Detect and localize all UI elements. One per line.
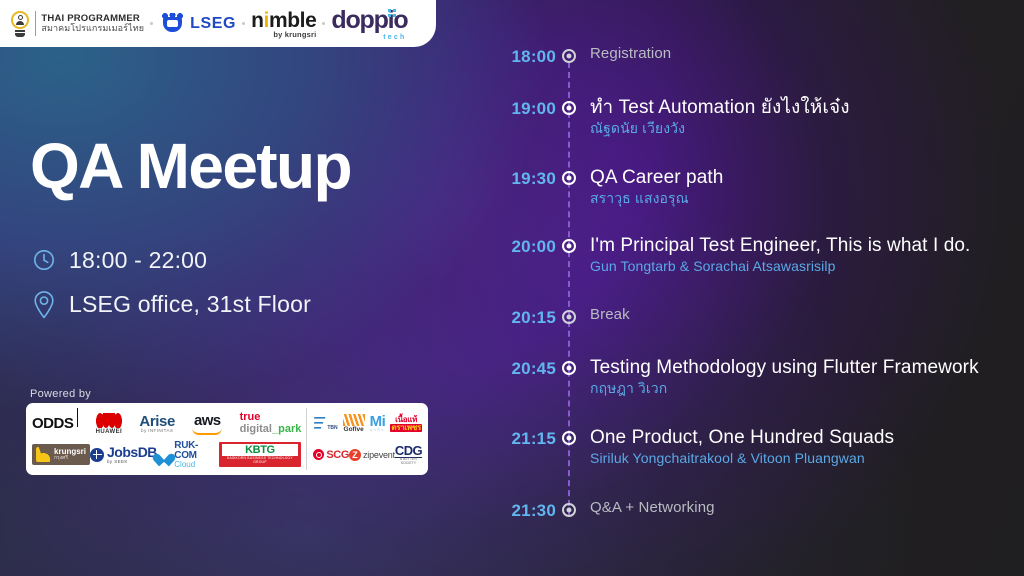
event-poster: THAI PROGRAMMER สมาคมโปรแกรมเมอร์ไทย LSE… (0, 0, 1024, 576)
sponsor-krungsri: krungsri กรุงศรี (32, 441, 90, 468)
sponsor-header-bar: THAI PROGRAMMER สมาคมโปรแกรมเมอร์ไทย LSE… (0, 0, 436, 47)
powered-by-label: Powered by (30, 388, 91, 400)
sponsor-aws: aws (192, 410, 222, 437)
agenda-item-time: 20:45 (460, 357, 556, 379)
event-info-panel: QA Meetup 18:00 - 22:00 LSEG office, 31s… (0, 47, 460, 576)
agenda-item-title: One Product, One Hundred Squads (590, 427, 1024, 449)
agenda-item: 21:30Q&A + Networking (460, 499, 1024, 521)
agenda-item-body: One Product, One Hundred SquadsSiriluk Y… (581, 427, 1024, 467)
sponsor-true-digital-park: true digital_park (240, 410, 302, 437)
agenda-item-title: Break (590, 306, 1024, 323)
zipevent-mark-icon: Z (349, 449, 361, 461)
logo-doppio: doppio tech (331, 8, 407, 40)
agenda-item: 20:45Testing Methodology using Flutter F… (460, 357, 1024, 397)
agenda-item-title: Testing Methodology using Flutter Framew… (590, 357, 1024, 379)
sponsor-tbn: TBN (313, 410, 337, 437)
timeline-dot-icon (562, 431, 576, 445)
sponsor-main-group: ODDS HUAWEI Arise by INFINITAS (32, 408, 301, 470)
sponsor-neua-thai: เนื้อแท้ ตราเพชร (390, 410, 422, 437)
scg-mark-icon (313, 449, 324, 460)
page-title: QA Meetup (30, 134, 351, 198)
agenda-item: 20:00I'm Principal Test Engineer, This i… (460, 235, 1024, 275)
agenda-item-time: 20:15 (460, 306, 556, 328)
agenda-item-speaker: กฤษฎา วิเวก (590, 380, 1024, 397)
agenda-item-body: Testing Methodology using Flutter Framew… (581, 357, 1024, 397)
agenda-item-title: QA Career path (590, 167, 1024, 189)
agenda-item-marker (556, 97, 581, 115)
lseg-wordmark: LSEG (190, 15, 236, 33)
sponsor-row: SCG Z zipevent CDG A BETTER SOCIETY (313, 440, 422, 469)
agenda-item-title: I'm Principal Test Engineer, This is wha… (590, 235, 1024, 257)
agenda-item-marker (556, 357, 581, 375)
sponsor-zipevent: Z zipevent (349, 441, 395, 468)
agenda-item-time: 18:00 (460, 45, 556, 67)
timeline-dot-icon (562, 49, 576, 63)
sponsor-huawei: HUAWEI (96, 410, 122, 437)
huawei-flower-icon (96, 413, 122, 428)
agenda-item-speaker: สราวุธ แสงอรุณ (590, 190, 1024, 207)
logo-nimble: nimble by krungsri (251, 10, 316, 38)
agenda-item-body: ทำ Test Automation ยังไงให้เจ๋งณัฐดนัย เ… (581, 97, 1024, 137)
sponsor-kbtg: KBTG KASIKORN BUSINESS TECHNOLOGY GROUP (219, 441, 302, 468)
sponsor-cdg: CDG A BETTER SOCIETY (395, 441, 422, 468)
agenda-item-body: Break (581, 306, 1024, 323)
clock-icon (31, 245, 57, 275)
doppio-dots-icon (388, 9, 396, 17)
aws-swoosh-icon (192, 428, 222, 435)
logo-separator-dot (150, 22, 153, 25)
sponsor-odds: ODDS (32, 410, 78, 437)
divider (35, 11, 36, 36)
sponsor-scg: SCG (313, 441, 349, 468)
agenda-item-marker (556, 235, 581, 253)
timeline-dot-icon (562, 503, 576, 517)
agenda-item-marker (556, 499, 581, 517)
sponsor-logos-card: ODDS HUAWEI Arise by INFINITAS (26, 403, 428, 475)
agenda-item-marker (556, 306, 581, 324)
agenda-item-body: QA Career pathสราวุธ แสงอรุณ (581, 167, 1024, 207)
timeline-dot-icon (562, 171, 576, 185)
sponsor-jobsdb: JobsDB by SEEK (90, 441, 157, 468)
jobsdb-globe-icon (90, 448, 104, 462)
timeline-dot-icon (562, 239, 576, 253)
agenda-item-speaker: ณัฐดนัย เวียงวัง (590, 120, 1024, 137)
sponsor-row: ODDS HUAWEI Arise by INFINITAS (32, 409, 301, 438)
agenda-item: 21:15One Product, One Hundred SquadsSiri… (460, 427, 1024, 467)
timeline-dot-icon (562, 310, 576, 324)
agenda-item-time: 21:15 (460, 427, 556, 449)
thai-programmer-name-th: สมาคมโปรแกรมเมอร์ไทย (41, 24, 144, 33)
sponsor-rukcom-cloud: RUK-COM Cloud (157, 441, 219, 468)
agenda-item-time: 19:00 (460, 97, 556, 119)
nimble-wordmark: nimble (251, 10, 316, 31)
agenda-item-speaker: Siriluk Yongchaitrakool & Vitoon Pluangw… (590, 450, 1024, 467)
agenda-item: 19:00ทำ Test Automation ยังไงให้เจ๋งณัฐด… (460, 97, 1024, 137)
agenda-item-marker (556, 427, 581, 445)
nimble-byline: by krungsri (273, 30, 316, 39)
agenda-item-time: 19:30 (460, 167, 556, 189)
agenda-item-time: 20:00 (460, 235, 556, 257)
event-location-text: LSEG office, 31st Floor (69, 291, 311, 318)
agenda-item-body: I'm Principal Test Engineer, This is wha… (581, 235, 1024, 275)
timeline-dot-icon (562, 101, 576, 115)
agenda-item: 20:15Break (460, 306, 1024, 328)
agenda-item-title: Registration (590, 45, 1024, 62)
location-pin-icon (31, 289, 57, 319)
sponsor-row: TBN Goflve Mi ธุรกิจ (313, 409, 422, 438)
logo-separator-dot (322, 22, 325, 25)
agenda-item: 19:30QA Career pathสราวุธ แสงอรุณ (460, 167, 1024, 207)
event-time-row: 18:00 - 22:00 (31, 245, 207, 275)
agenda-item-speaker: Gun Tongtarb & Sorachai Atsawasrisilp (590, 258, 1024, 275)
logo-lseg: LSEG (159, 13, 236, 35)
goflve-bars-icon (343, 414, 365, 426)
event-time-text: 18:00 - 22:00 (69, 247, 207, 274)
tbn-mark-icon (312, 416, 327, 431)
logo-separator-dot (242, 22, 245, 25)
sponsor-side-group: TBN Goflve Mi ธุรกิจ (306, 408, 422, 470)
agenda-item-marker (556, 45, 581, 63)
krungsri-mark-icon (36, 447, 51, 462)
agenda-item: 18:00Registration (460, 45, 1024, 67)
agenda-item-body: Registration (581, 45, 1024, 62)
doppio-byline: tech (383, 34, 406, 41)
lseg-crest-icon (159, 13, 186, 35)
sponsor-row: krungsri กรุงศรี JobsDB by SEEK (32, 440, 301, 469)
agenda-item-time: 21:30 (460, 499, 556, 521)
agenda-timeline: 18:00Registration19:00ทำ Test Automation… (460, 0, 1024, 576)
agenda-item-title: ทำ Test Automation ยังไงให้เจ๋ง (590, 97, 1024, 119)
timeline-dot-icon (562, 361, 576, 375)
sponsor-arise: Arise by INFINITAS (139, 410, 175, 437)
rukcom-heart-icon (157, 448, 171, 462)
lightbulb-icon (10, 11, 30, 37)
event-location-row: LSEG office, 31st Floor (31, 289, 311, 319)
sponsor-goflve: Goflve (343, 410, 365, 437)
sponsor-mi: Mi ธุรกิจ (370, 410, 386, 437)
agenda-item-title: Q&A + Networking (590, 499, 1024, 516)
agenda-item-marker (556, 167, 581, 185)
logo-thai-programmer: THAI PROGRAMMER สมาคมโปรแกรมเมอร์ไทย (10, 11, 144, 37)
agenda-item-body: Q&A + Networking (581, 499, 1024, 516)
